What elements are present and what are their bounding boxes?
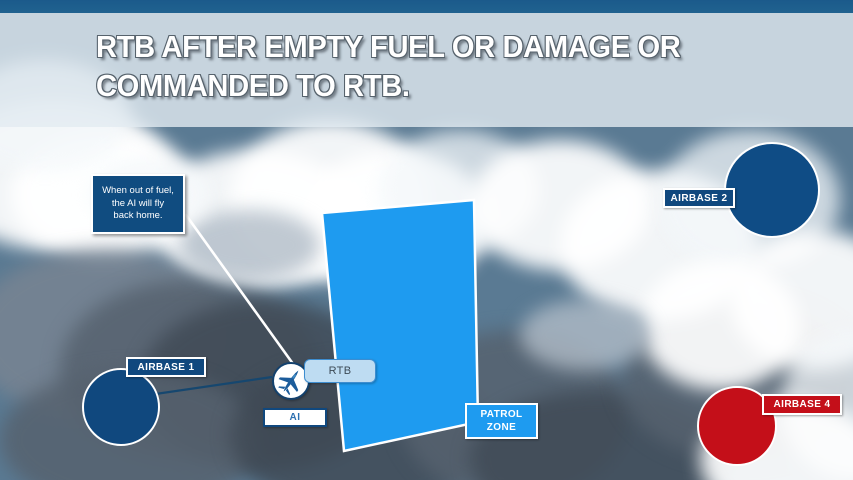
- ai-unit-label[interactable]: AI: [263, 408, 327, 427]
- airbase-1-label[interactable]: AIRBASE 1: [126, 357, 206, 377]
- out-of-fuel-callout-text: When out of fuel, the AI will fly back h…: [97, 185, 179, 223]
- airbase-1-marker[interactable]: [82, 368, 160, 446]
- airbase-4-label[interactable]: AIRBASE 4: [762, 394, 842, 415]
- patrol-zone-label-line1: PATROL: [480, 408, 522, 421]
- patrol-zone-label-line2: ZONE: [487, 421, 516, 434]
- airbase-2-marker[interactable]: [724, 142, 820, 238]
- patrol-zone-label[interactable]: PATROL ZONE: [465, 403, 538, 439]
- out-of-fuel-callout: When out of fuel, the AI will fly back h…: [91, 174, 185, 234]
- fighter-jet-glyph: [277, 367, 305, 395]
- top-accent-strip: [0, 0, 853, 13]
- presentation-slide: AIRBASE 1 AIRBASE 2 AIRBASE 4 PATROL ZON…: [0, 0, 853, 480]
- slide-title: RTB AFTER EMPTY FUEL OR DAMAGE OR COMMAN…: [96, 27, 754, 105]
- rtb-state-pill[interactable]: RTB: [304, 359, 376, 383]
- airbase-2-label[interactable]: AIRBASE 2: [663, 188, 735, 208]
